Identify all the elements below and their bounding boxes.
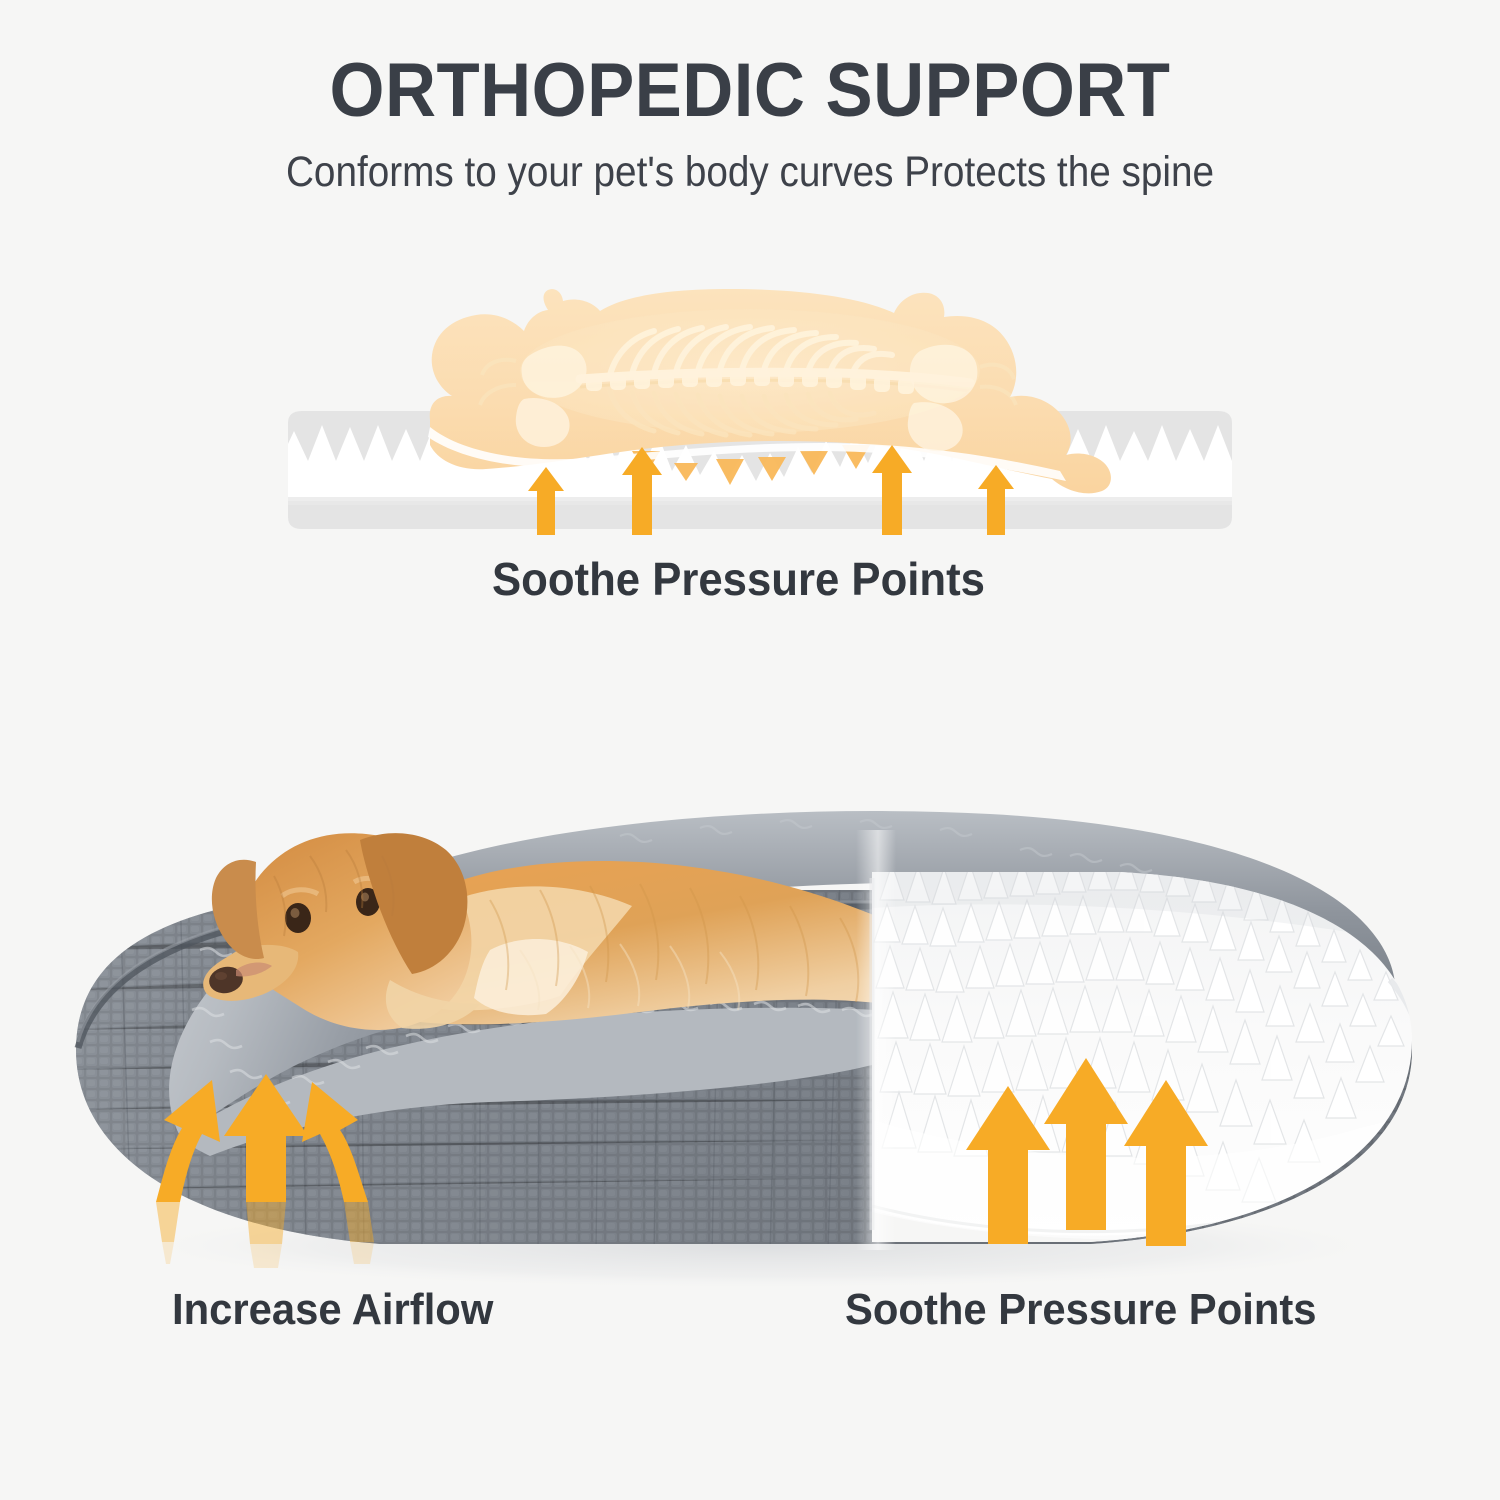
caption-increase-airflow: Increase Airflow	[172, 1285, 493, 1335]
page-title: ORTHOPEDIC SUPPORT	[53, 52, 1448, 130]
infographic-canvas: ORTHOPEDIC SUPPORT Conforms to your pet'…	[0, 0, 1500, 1500]
diagram-caption-pressure: Soothe Pressure Points	[492, 552, 985, 606]
cutaway-seam	[856, 830, 896, 1250]
caption-soothe-pressure-points: Soothe Pressure Points	[845, 1285, 1317, 1335]
foam-cross-section-diagram	[280, 275, 1240, 535]
page-subtitle: Conforms to your pet's body curves Prote…	[75, 148, 1425, 197]
dog-eye-left	[285, 903, 311, 933]
product-photo	[60, 650, 1450, 1290]
